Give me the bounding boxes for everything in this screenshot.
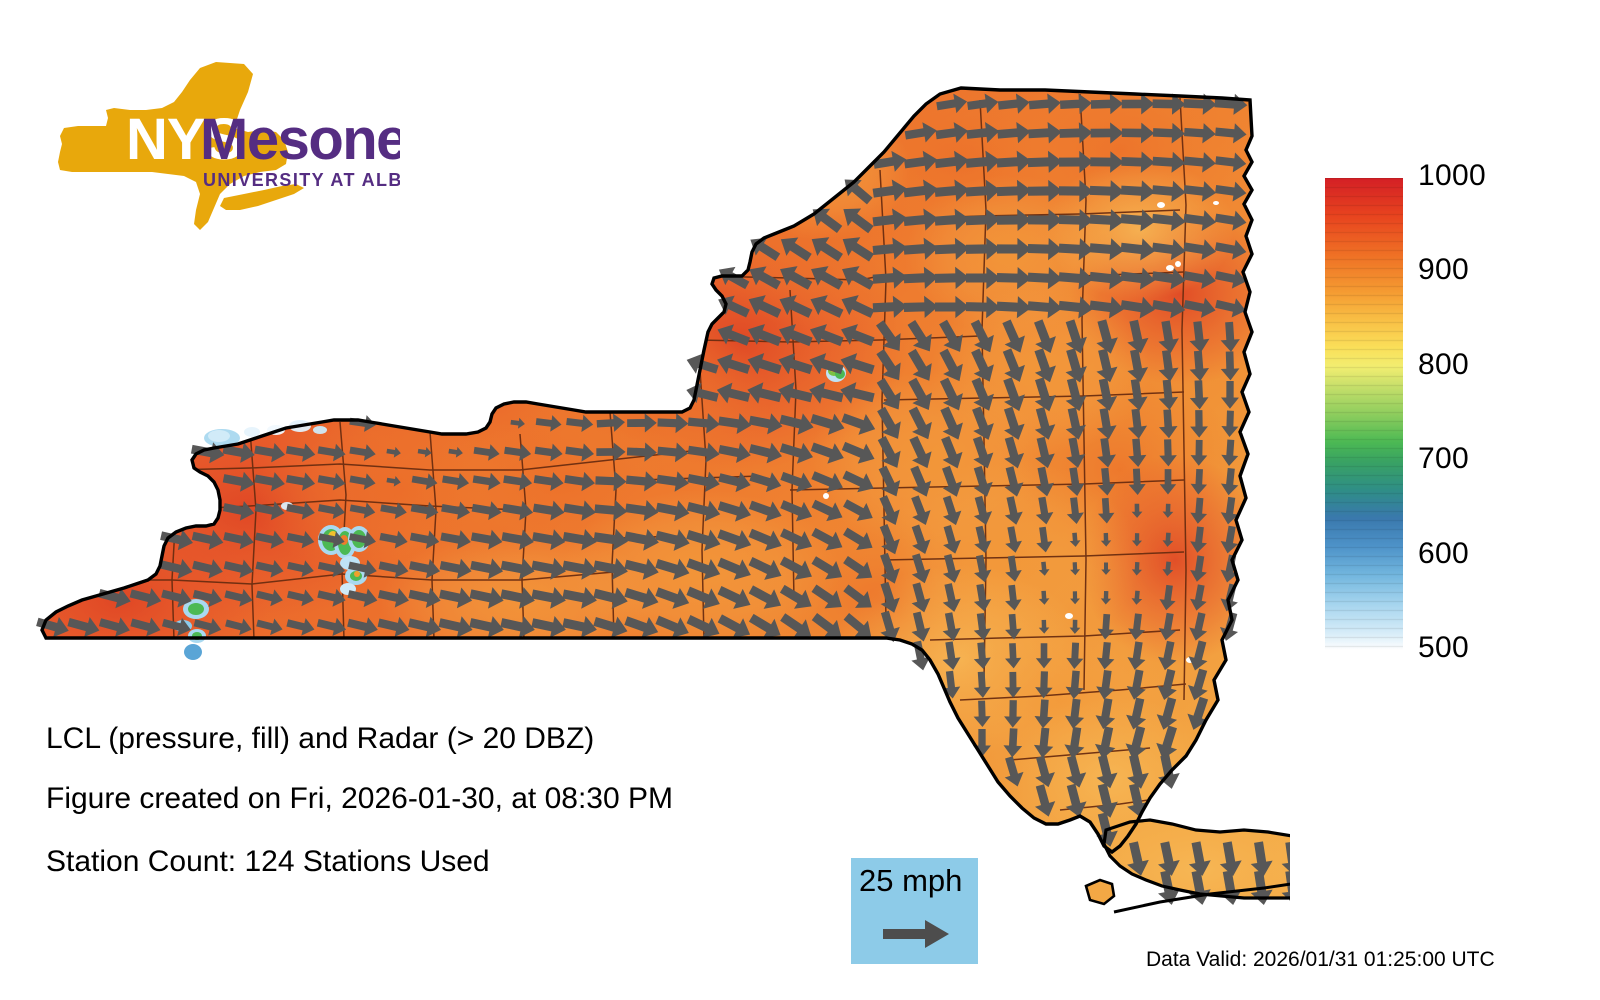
- colorbar-tick-900: 900: [1418, 255, 1469, 285]
- colorbar-tick-1000: 1000: [1418, 161, 1486, 191]
- colorbar-tick-500: 500: [1418, 633, 1469, 663]
- colorbar-tick-700: 700: [1418, 444, 1469, 474]
- staten-island-outline: [1086, 880, 1114, 904]
- colorbar-tick-800: 800: [1418, 350, 1469, 380]
- colorbar-tick-600: 600: [1418, 539, 1469, 569]
- figure-title: LCL (pressure, fill) and Radar (> 20 DBZ…: [46, 722, 594, 756]
- figure-canvas: NYS Mesonet UNIVERSITY AT ALBANY: [0, 0, 1600, 1000]
- wind-speed-key: 25 mph: [851, 858, 978, 964]
- right-arrow-icon: [881, 916, 951, 952]
- data-valid-text: Data Valid: 2026/01/31 01:25:00 UTC: [1146, 948, 1495, 972]
- colorbar-tick-labels: 1000900800700600500: [1418, 160, 1538, 670]
- station-count-text: Station Count: 124 Stations Used: [46, 845, 490, 879]
- colorbar-gradient: [1325, 178, 1403, 650]
- wind-key-label: 25 mph: [859, 863, 962, 899]
- lcl-colorbar: [1325, 178, 1403, 650]
- figure-created-text: Figure created on Fri, 2026-01-30, at 08…: [46, 782, 673, 816]
